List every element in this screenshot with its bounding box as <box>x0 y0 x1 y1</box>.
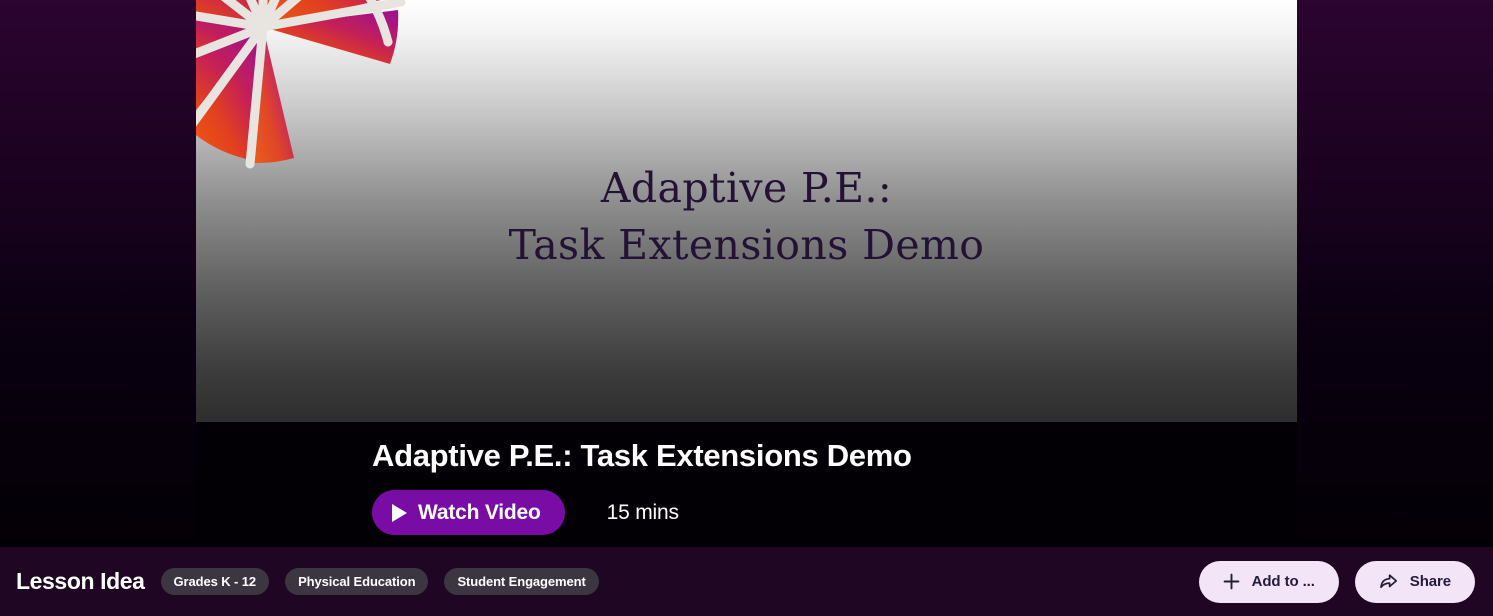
watch-video-button[interactable]: Watch Video <box>372 490 565 535</box>
page-root: Adaptive P.E.: Task Extensions Demo Adap… <box>0 0 1493 616</box>
tag-list: Grades K - 12 Physical Education Student… <box>161 568 599 595</box>
video-thumbnail[interactable]: Adaptive P.E.: Task Extensions Demo <box>196 0 1297 422</box>
watch-video-label: Watch Video <box>418 501 541 525</box>
page-title: Adaptive P.E.: Task Extensions Demo <box>372 437 1297 474</box>
media-meta: Adaptive P.E.: Task Extensions Demo Watc… <box>196 422 1297 547</box>
main-content-area: Adaptive P.E.: Task Extensions Demo Adap… <box>0 0 1493 547</box>
content-kind-label: Lesson Idea <box>16 568 145 595</box>
plus-icon <box>1223 573 1240 590</box>
play-icon <box>392 504 407 522</box>
share-button[interactable]: Share <box>1355 561 1475 603</box>
tag-topic[interactable]: Student Engagement <box>444 568 598 595</box>
share-arrow-icon <box>1379 573 1398 590</box>
add-to-label: Add to ... <box>1252 573 1315 590</box>
bottom-bar: Lesson Idea Grades K - 12 Physical Educa… <box>0 547 1493 616</box>
duration-label: 15 mins <box>607 501 679 525</box>
media-actions-row: Watch Video 15 mins <box>372 490 1297 535</box>
share-label: Share <box>1410 573 1451 590</box>
bar-actions: Add to ... Share <box>1199 561 1475 603</box>
add-to-button[interactable]: Add to ... <box>1199 561 1339 603</box>
leaf-fan-ornament <box>196 0 408 172</box>
thumbnail-title: Adaptive P.E.: Task Extensions Demo <box>196 160 1297 273</box>
tag-grades[interactable]: Grades K - 12 <box>161 568 270 595</box>
tag-subject[interactable]: Physical Education <box>285 568 428 595</box>
